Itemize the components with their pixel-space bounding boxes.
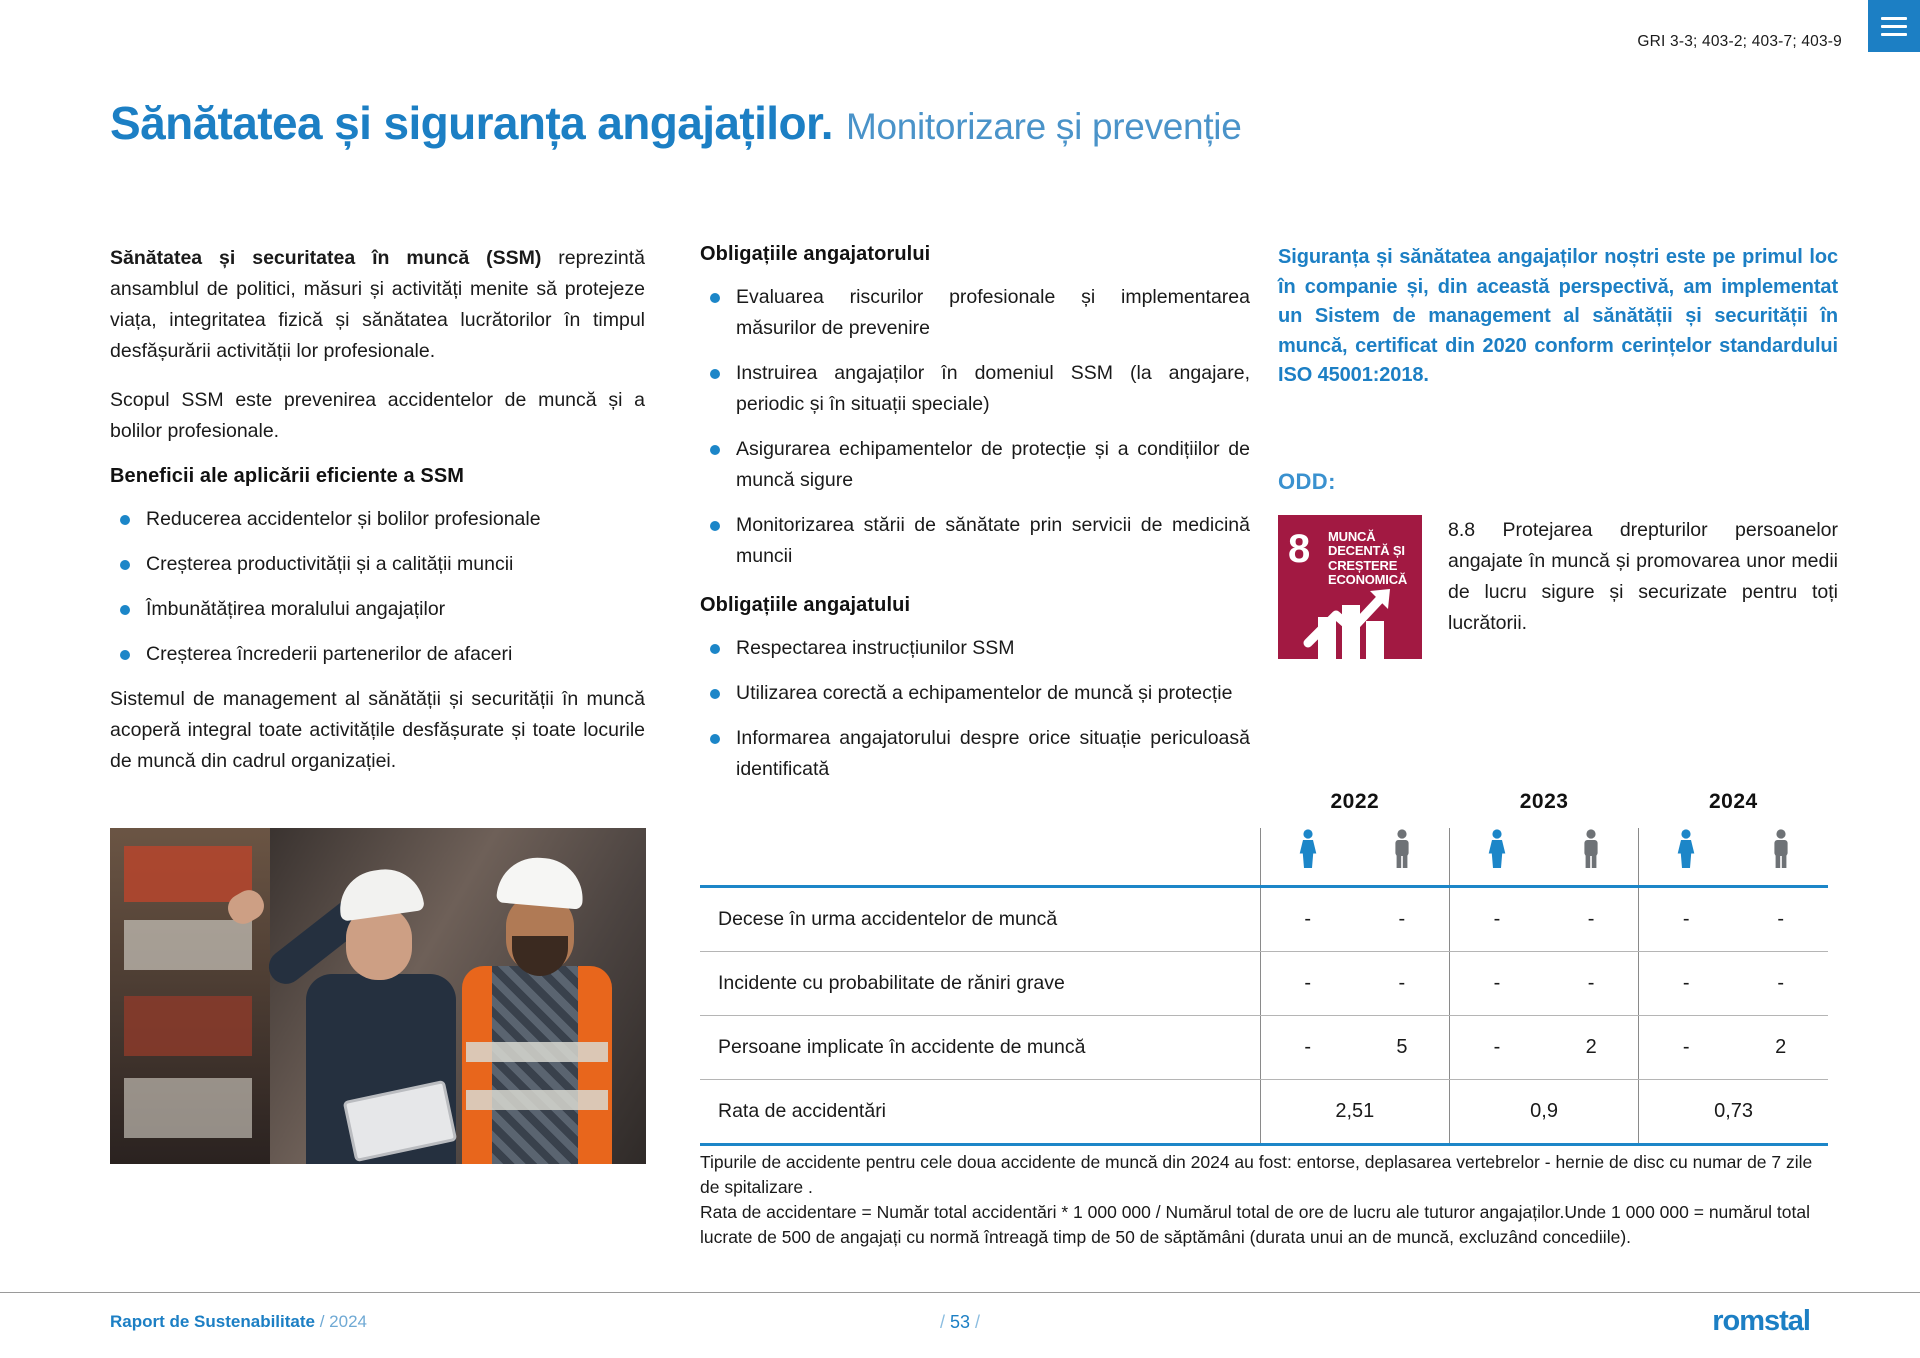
- sdg-title: MUNCĂ DECENTĂ ȘI CREȘTERE ECONOMICĂ: [1328, 530, 1417, 588]
- list-item: Îmbunătățirea moralului angajaților: [110, 594, 645, 625]
- column-left: Sănătatea și securitatea în muncă (SSM) …: [110, 243, 645, 777]
- sdg-number: 8: [1288, 529, 1310, 569]
- list-item: Instruirea angajaților în domeniul SSM (…: [700, 358, 1250, 420]
- cell-value: 5: [1355, 1016, 1450, 1080]
- hamburger-line-1: [1881, 17, 1907, 20]
- cell-value: 0,73: [1639, 1080, 1828, 1145]
- romstal-logo: romstal: [1712, 1305, 1810, 1338]
- gri-reference: GRI 3-3; 403-2; 403-7; 403-9: [1637, 33, 1842, 51]
- male-figure-icon: [1544, 828, 1639, 887]
- table-row: Rata de accidentări 2,51 0,9 0,73: [700, 1080, 1828, 1145]
- photo-box-1: [124, 846, 252, 902]
- female-figure-icon: [1449, 828, 1544, 887]
- list-item: Evaluarea riscurilor profesionale și imp…: [700, 282, 1250, 344]
- list-item: Creșterea încrederii partenerilor de afa…: [110, 639, 645, 670]
- odd-label: ODD:: [1278, 469, 1838, 495]
- cell-value: -: [1544, 952, 1639, 1016]
- list-item: Respectarea instrucțiunilor SSM: [700, 633, 1250, 664]
- hamburger-line-2: [1881, 25, 1907, 28]
- row-label: Decese în urma accidentelor de muncă: [700, 887, 1260, 952]
- column-middle: Obligațiile angajatorului Evaluarea risc…: [700, 243, 1250, 799]
- male-figure-icon: [1355, 828, 1450, 887]
- benefits-heading: Beneficii ale aplicării eficiente a SSM: [110, 465, 645, 488]
- page-root: GRI 3-3; 403-2; 403-7; 403-9 Sănătatea ș…: [0, 0, 1920, 1358]
- cell-value: -: [1733, 887, 1828, 952]
- cell-value: 2: [1544, 1016, 1639, 1080]
- female-figure-icon: [1260, 828, 1355, 887]
- table-year-header-row: 2022 2023 2024: [700, 790, 1828, 828]
- row-label: Rata de accidentări: [700, 1080, 1260, 1145]
- page-slash-right: /: [975, 1312, 980, 1332]
- list-item: Monitorizarea stării de sănătate prin se…: [700, 510, 1250, 572]
- cell-value: -: [1449, 887, 1544, 952]
- female-figure-icon: [1639, 828, 1734, 887]
- accidents-table: 2022 2023 2024: [700, 790, 1828, 1146]
- row-label: Incidente cu probabilitate de răniri gra…: [700, 952, 1260, 1016]
- photo-vest-stripe-2: [466, 1090, 608, 1110]
- cell-value: -: [1260, 887, 1355, 952]
- cell-value: -: [1260, 952, 1355, 1016]
- table-year-2022: 2022: [1260, 790, 1449, 828]
- list-item: Creșterea productivității și a calității…: [110, 549, 645, 580]
- column-right: Siguranța și sănătatea angajaților noștr…: [1278, 243, 1838, 659]
- odd-description: 8.8 Protejarea drepturilor persoanelor a…: [1448, 515, 1838, 639]
- cell-value: 0,9: [1449, 1080, 1638, 1145]
- photo-worker-shirt: [492, 966, 578, 1164]
- benefits-list: Reducerea accidentelor și bolilor profes…: [110, 504, 645, 670]
- footnote-line-2: Rata de accidentare = Număr total accide…: [700, 1200, 1830, 1250]
- cell-value: -: [1639, 1016, 1734, 1080]
- employee-obligations-heading: Obligațiile angajatului: [700, 594, 1250, 617]
- cell-value: -: [1639, 887, 1734, 952]
- cell-value: -: [1449, 952, 1544, 1016]
- employee-obligations-list: Respectarea instrucțiunilor SSM Utilizar…: [700, 633, 1250, 785]
- intro-paragraph: Sănătatea și securitatea în muncă (SSM) …: [110, 243, 645, 367]
- scope-paragraph: Scopul SSM este prevenirea accidentelor …: [110, 385, 645, 447]
- list-item: Informarea angajatorului despre orice si…: [700, 723, 1250, 785]
- cell-value: -: [1355, 952, 1450, 1016]
- footer-divider: [0, 1292, 1920, 1293]
- cell-value: -: [1449, 1016, 1544, 1080]
- safety-statement: Siguranța și sănătatea angajaților noștr…: [1278, 243, 1838, 391]
- management-system-paragraph: Sistemul de management al sănătății și s…: [110, 684, 645, 777]
- cell-value: 2,51: [1260, 1080, 1449, 1145]
- page-slash-left: /: [940, 1312, 945, 1332]
- table-footnote: Tipurile de accidente pentru cele doua a…: [700, 1150, 1830, 1250]
- page-title: Sănătatea și siguranța angajaților. Moni…: [110, 96, 1242, 150]
- photo-vest-stripe-1: [466, 1042, 608, 1062]
- footer-page-number: / 53 /: [0, 1312, 1920, 1333]
- sdg-8-tile: 8 MUNCĂ DECENTĂ ȘI CREȘTERE ECONOMICĂ: [1278, 515, 1422, 659]
- table-year-2023: 2023: [1449, 790, 1638, 828]
- intro-bold-lead: Sănătatea și securitatea în muncă (SSM): [110, 247, 541, 269]
- photo-box-2: [124, 920, 252, 970]
- cell-value: -: [1355, 887, 1450, 952]
- cell-value: -: [1544, 887, 1639, 952]
- footnote-line-1: Tipurile de accidente pentru cele doua a…: [700, 1150, 1830, 1200]
- male-figure-icon: [1733, 828, 1828, 887]
- table-row: Decese în urma accidentelor de muncă - -…: [700, 887, 1828, 952]
- table-row: Persoane implicate în accidente de muncă…: [700, 1016, 1828, 1080]
- page-number-value: 53: [950, 1312, 970, 1332]
- hamburger-line-3: [1881, 33, 1907, 36]
- hamburger-menu-button[interactable]: [1868, 0, 1920, 52]
- table-year-2024: 2024: [1639, 790, 1828, 828]
- list-item: Utilizarea corectă a echipamentelor de m…: [700, 678, 1250, 709]
- cell-value: 2: [1733, 1016, 1828, 1080]
- workplace-safety-photo: [110, 828, 646, 1164]
- odd-row: 8 MUNCĂ DECENTĂ ȘI CREȘTERE ECONOMICĂ 8.…: [1278, 515, 1838, 659]
- table-gender-icon-row: [700, 828, 1828, 887]
- cell-value: -: [1639, 952, 1734, 1016]
- page-title-main: Sănătatea și siguranța angajaților.: [110, 96, 833, 150]
- list-item: Asigurarea echipamentelor de protecție ș…: [700, 434, 1250, 496]
- row-label: Persoane implicate în accidente de muncă: [700, 1016, 1260, 1080]
- employer-obligations-list: Evaluarea riscurilor profesionale și imp…: [700, 282, 1250, 572]
- table-row: Incidente cu probabilitate de răniri gra…: [700, 952, 1828, 1016]
- list-item: Reducerea accidentelor și bolilor profes…: [110, 504, 645, 535]
- growth-arrow-bars-icon: [1278, 581, 1422, 659]
- page-title-subtitle: Monitorizare și prevenție: [846, 106, 1242, 148]
- employer-obligations-heading: Obligațiile angajatorului: [700, 243, 1250, 266]
- photo-box-3: [124, 996, 252, 1056]
- photo-box-4: [124, 1078, 252, 1138]
- cell-value: -: [1260, 1016, 1355, 1080]
- cell-value: -: [1733, 952, 1828, 1016]
